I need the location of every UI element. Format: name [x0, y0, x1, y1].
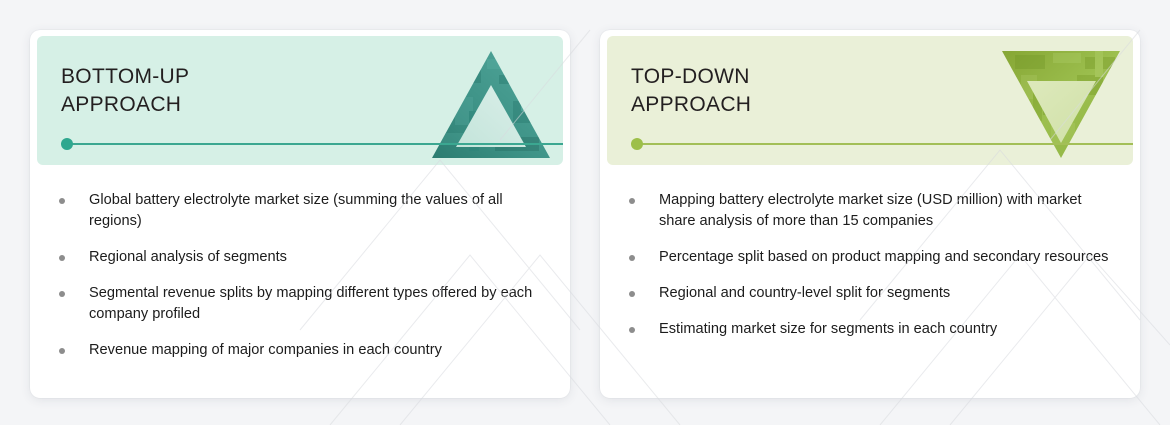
list-item-text: Estimating market size for segments in e… — [659, 321, 997, 337]
bullet-list-top-down: Mapping battery electrolyte market size … — [626, 190, 1114, 340]
list-item: Regional and country-level split for seg… — [626, 283, 1114, 304]
bullet-dot-icon — [629, 327, 635, 333]
bullet-dot-icon — [59, 255, 65, 261]
connector-rail-top-down — [631, 143, 1133, 145]
downward-triangle-icon — [999, 45, 1123, 165]
connector-rail-bottom-up — [61, 143, 563, 145]
list-item-text: Percentage split based on product mappin… — [659, 249, 1108, 265]
card-body-bottom-up: Global battery electrolyte market size (… — [30, 172, 570, 398]
card-top-down: TOP-DOWN APPROACH — [600, 30, 1140, 398]
list-item-text: Global battery electrolyte market size (… — [89, 192, 503, 229]
connector-dot — [61, 138, 73, 150]
bullet-list-bottom-up: Global battery electrolyte market size (… — [56, 190, 544, 361]
approach-cards-board: BOTTOM-UP APPROACH — [0, 0, 1170, 425]
list-item: Percentage split based on product mappin… — [626, 247, 1114, 268]
card-title-top-down: TOP-DOWN APPROACH — [631, 63, 751, 119]
card-body-top-down: Mapping battery electrolyte market size … — [600, 172, 1140, 398]
bullet-dot-icon — [59, 291, 65, 297]
bullet-dot-icon — [59, 198, 65, 204]
connector-line — [67, 143, 563, 145]
upward-triangle-icon — [429, 45, 553, 165]
list-item: Estimating market size for segments in e… — [626, 319, 1114, 340]
bullet-dot-icon — [629, 291, 635, 297]
list-item: Regional analysis of segments — [56, 247, 544, 268]
connector-line — [637, 143, 1133, 145]
bullet-dot-icon — [629, 198, 635, 204]
list-item-text: Segmental revenue splits by mapping diff… — [89, 285, 532, 322]
card-header-bottom-up: BOTTOM-UP APPROACH — [37, 36, 563, 165]
list-item: Mapping battery electrolyte market size … — [626, 190, 1114, 232]
card-title-bottom-up: BOTTOM-UP APPROACH — [61, 63, 189, 119]
list-item: Revenue mapping of major companies in ea… — [56, 340, 544, 361]
bullet-dot-icon — [59, 348, 65, 354]
list-item: Global battery electrolyte market size (… — [56, 190, 544, 232]
list-item-text: Regional and country-level split for seg… — [659, 285, 950, 301]
list-item: Segmental revenue splits by mapping diff… — [56, 283, 544, 325]
list-item-text: Mapping battery electrolyte market size … — [659, 192, 1082, 229]
card-bottom-up: BOTTOM-UP APPROACH — [30, 30, 570, 398]
bullet-dot-icon — [629, 255, 635, 261]
list-item-text: Revenue mapping of major companies in ea… — [89, 342, 442, 358]
list-item-text: Regional analysis of segments — [89, 249, 287, 265]
connector-dot — [631, 138, 643, 150]
card-header-top-down: TOP-DOWN APPROACH — [607, 36, 1133, 165]
